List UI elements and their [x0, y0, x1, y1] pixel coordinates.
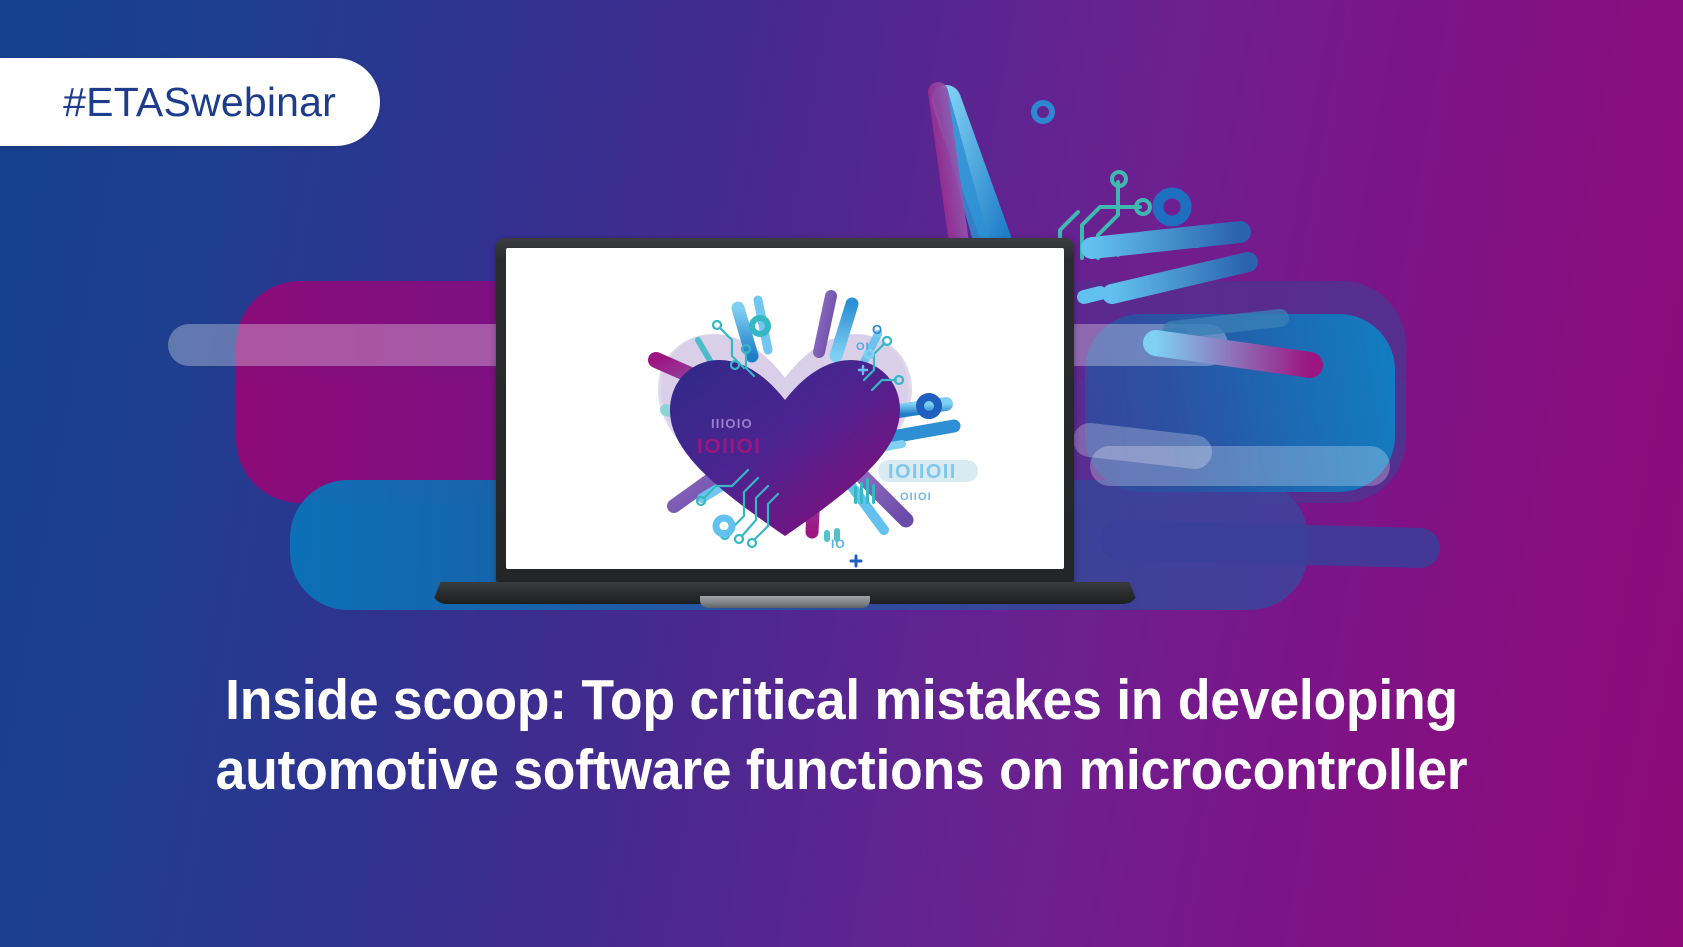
- ring-icon-top: [1034, 103, 1052, 121]
- digital-heart-artwork: IIIOIO IOIIOI IOIIOII OIIOI IO OI O: [506, 248, 1064, 569]
- ring-icon-right: [1158, 193, 1186, 221]
- binary-label-5: OI: [856, 341, 870, 353]
- laptop-mockup: IIIOIO IOIIOI IOIIOII OIIOI IO OI O: [432, 238, 1138, 610]
- binary-label-4: IO: [831, 537, 846, 551]
- laptop-base-notch: [700, 596, 870, 608]
- headline-line-2: automotive software functions on microco…: [116, 735, 1566, 805]
- laptop-lid: IIIOIO IOIIOI IOIIOII OIIOI IO OI O: [496, 238, 1074, 583]
- plus-icon-1: [851, 556, 861, 566]
- webinar-banner: IIIOIO IOIIOI IOIIOII OIIOI IO OI O #ETA…: [0, 0, 1683, 947]
- hashtag-badge: #ETASwebinar: [0, 58, 380, 146]
- hashtag-label: #ETASwebinar: [63, 79, 336, 126]
- binary-label-6: O: [872, 322, 882, 337]
- binary-label-0: IIIOIO: [711, 416, 753, 431]
- ring-icon-art-3: [716, 518, 732, 534]
- binary-label-1: IOIIOI: [697, 435, 761, 458]
- headline: Inside scoop: Top critical mistakes in d…: [0, 665, 1683, 805]
- laptop-screen: IIIOIO IOIIOI IOIIOII OIIOI IO OI O: [506, 248, 1064, 569]
- binary-label-2: IOIIOII: [888, 461, 957, 483]
- laptop-base: [432, 582, 1138, 610]
- headline-line-1: Inside scoop: Top critical mistakes in d…: [116, 665, 1566, 735]
- binary-label-3: OIIOI: [900, 491, 932, 503]
